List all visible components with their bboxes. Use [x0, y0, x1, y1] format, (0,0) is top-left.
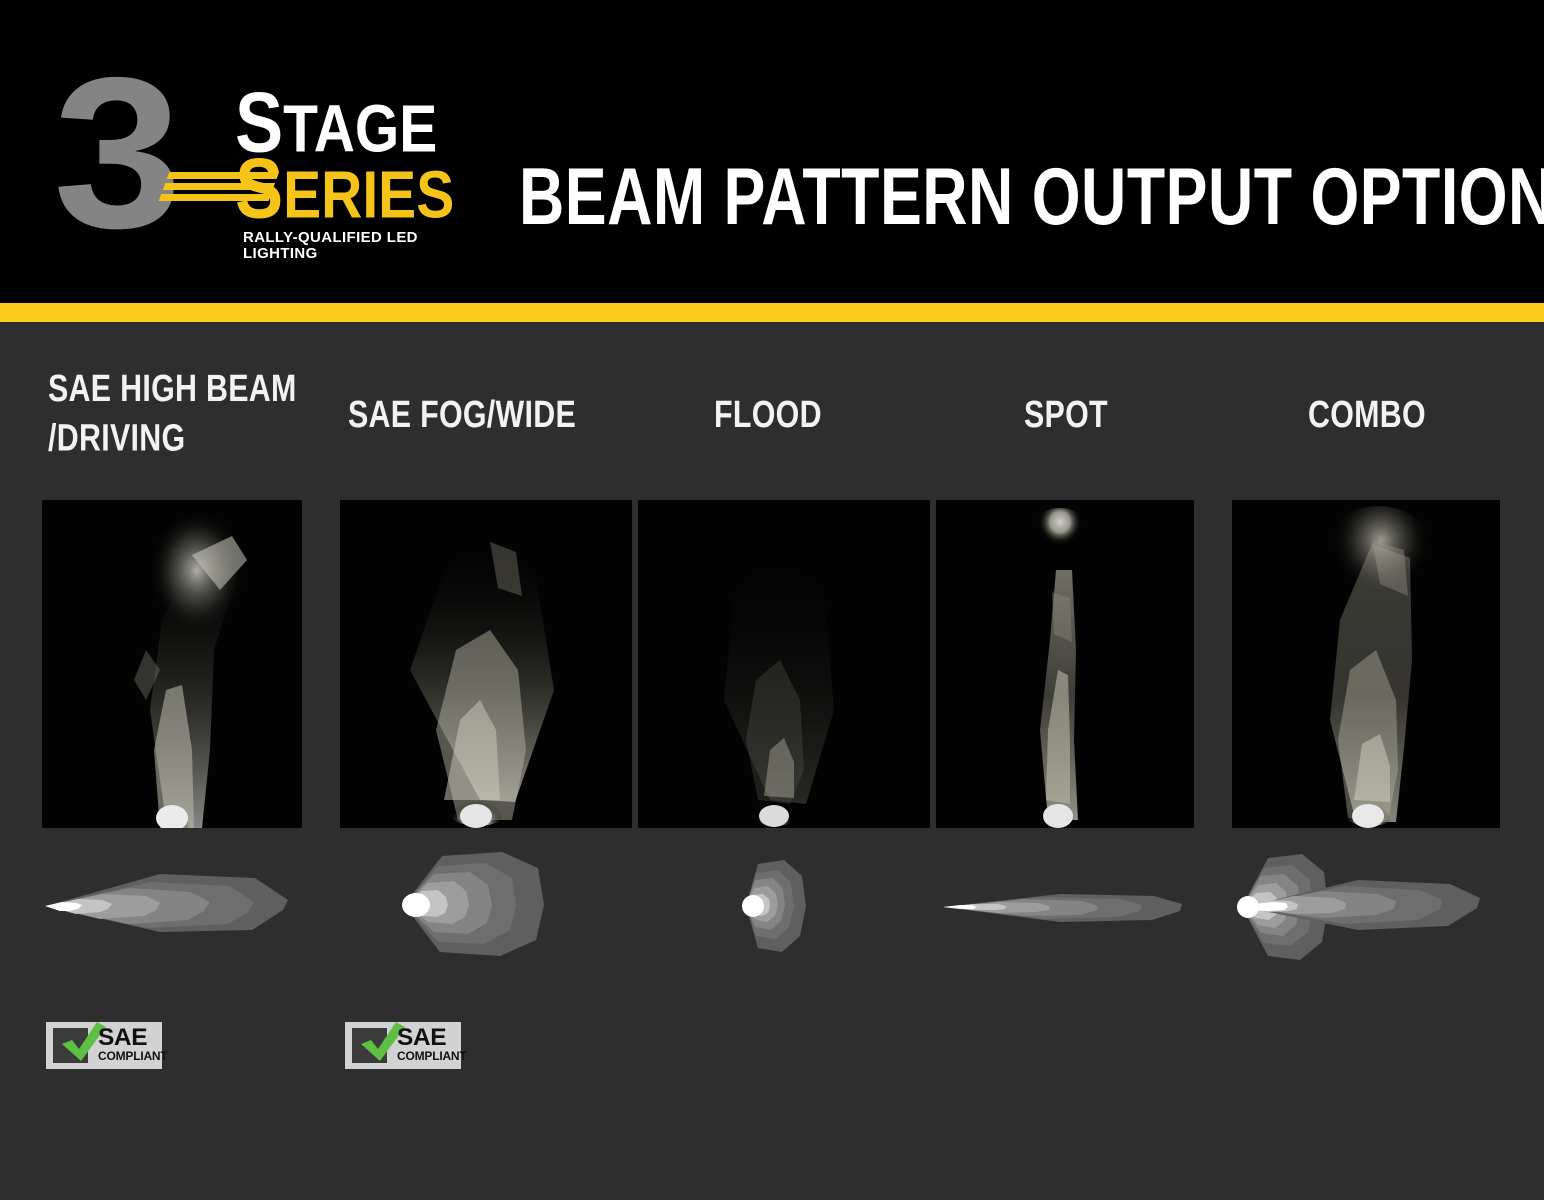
sae-badge-title: SAE	[98, 1025, 147, 1050]
sae-badge-title: SAE	[397, 1025, 446, 1050]
page-header: 3 STAGE SERIES RALLY-QUALIFIED LED LIGHT…	[0, 0, 1544, 303]
night-scene-illustration	[638, 500, 930, 828]
beam-diagram-sae-high-beam-driving	[40, 862, 310, 946]
column-title-combo: COMBO	[1308, 390, 1536, 439]
beam-diagram-combo	[1228, 850, 1500, 964]
beam-photo-sae-fog-wide	[340, 500, 632, 828]
beam-photo-flood	[638, 500, 930, 828]
logo-numeral-3: 3	[53, 60, 176, 245]
sae-badge-subtitle: COMPLIANT	[397, 1050, 467, 1063]
night-scene-illustration	[1232, 500, 1500, 828]
beam-diagram-spot	[940, 878, 1198, 936]
beam-pattern-grid: SAE HIGH BEAM /DRIVING	[0, 322, 1544, 1200]
sae-badge-subtitle: COMPLIANT	[98, 1050, 168, 1063]
logo-word-series: SERIES	[235, 156, 454, 229]
column-title-flood: FLOOD	[714, 390, 942, 439]
beam-photo-sae-high-beam-driving	[42, 500, 302, 828]
night-scene-illustration	[340, 500, 632, 828]
logo-series-rest: ERIES	[283, 157, 454, 232]
column-title-sae-fog-wide: SAE FOG/WIDE	[348, 390, 633, 439]
stage-series-logo: 3 STAGE SERIES RALLY-QUALIFIED LED LIGHT…	[45, 52, 475, 237]
beam-diagram-flood	[728, 856, 820, 956]
beam-diagram-sae-fog-wide	[392, 850, 562, 960]
column-title-spot: SPOT	[1024, 390, 1252, 439]
sae-compliant-badge-sae-high-beam-driving: SAE COMPLIANT	[46, 1022, 162, 1069]
beam-photo-spot	[936, 500, 1194, 828]
night-scene-illustration	[936, 500, 1194, 828]
sae-compliant-badge-sae-fog-wide: SAE COMPLIANT	[345, 1022, 461, 1069]
logo-series-cap: S	[235, 141, 283, 236]
logo-stage-rest: TAGE	[283, 91, 437, 166]
logo-tagline: RALLY-QUALIFIED LED LIGHTING	[243, 230, 482, 262]
night-scene-illustration	[42, 500, 302, 828]
beam-photo-combo	[1232, 500, 1500, 828]
column-title-sae-high-beam-driving: SAE HIGH BEAM /DRIVING	[48, 364, 333, 462]
page-title: BEAM PATTERN OUTPUT OPTIONS	[519, 156, 1544, 237]
accent-divider-bar	[0, 303, 1544, 322]
